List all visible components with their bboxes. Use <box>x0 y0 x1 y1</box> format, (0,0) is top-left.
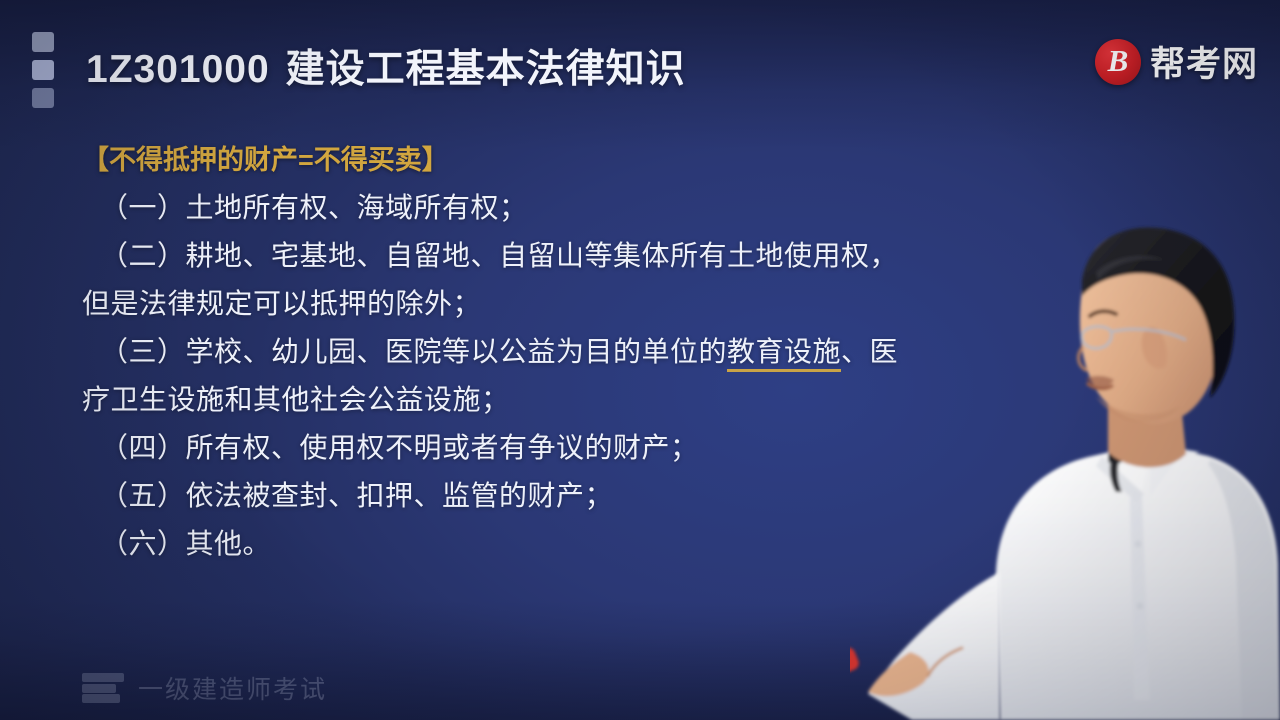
slide-line-item-3-highlight: 教育设施 <box>727 336 841 372</box>
presenter-glasses <box>1082 327 1186 349</box>
presenter-mouth <box>1088 384 1112 389</box>
hair-highlight <box>1096 256 1164 280</box>
presenter-ear <box>1142 327 1168 369</box>
lecture-video-frame: 1Z301000建设工程基本法律知识 B 帮考网 【不得抵押的财产=不得买卖】 … <box>0 0 1280 720</box>
shirt-placket <box>1130 496 1150 700</box>
slide-line-item-3-tail: 、医 <box>841 336 898 367</box>
shirt-button-1 <box>1135 541 1142 548</box>
presenter-neck <box>1108 392 1186 467</box>
course-code: 1Z301000 <box>86 48 270 91</box>
watermark-label: 一级建造师考试 <box>138 670 327 706</box>
lapel-mic <box>1110 456 1122 492</box>
left-sleeve <box>868 572 1000 720</box>
slide-line-item-3-lead: （三）学校、幼儿园、医院等以公益为目的单位的 <box>100 336 727 367</box>
brand-badge-icon: B <box>1095 39 1141 85</box>
book-bar-1 <box>82 673 124 682</box>
collar-fold <box>1096 456 1144 502</box>
slide-line-item-6: （六）其他。 <box>82 520 882 568</box>
mouth-open <box>1086 376 1114 389</box>
slide-line-item-2: （二）耕地、宅基地、自留地、自留山等集体所有土地使用权， <box>82 232 882 280</box>
square-3 <box>32 88 54 108</box>
square-2 <box>32 60 54 80</box>
slide-content: 【不得抵押的财产=不得买卖】 （一）土地所有权、海域所有权； （二）耕地、宅基地… <box>82 136 882 568</box>
square-1 <box>32 32 54 52</box>
slide-line-item-2-continued: 但是法律规定可以抵押的除外； <box>82 280 882 328</box>
book-bar-2 <box>82 684 116 693</box>
presenter-figure <box>850 140 1280 720</box>
page-title: 1Z301000建设工程基本法律知识 <box>86 38 686 94</box>
course-title: 建设工程基本法律知识 <box>286 48 686 91</box>
slide-line-item-3-continued: 疗卫生设施和其他社会公益设施； <box>82 376 882 424</box>
stacked-books-icon <box>82 673 124 703</box>
slide-line-item-1: （一）土地所有权、海域所有权； <box>82 184 882 232</box>
slide-line-item-5: （五）依法被查封、扣押、监管的财产； <box>82 472 882 520</box>
brand-badge-letter: B <box>1095 39 1141 85</box>
presenter-arms <box>850 572 1000 720</box>
mic-clip <box>1108 452 1122 463</box>
left-hand <box>868 652 929 696</box>
three-squares-icon <box>32 32 54 108</box>
book-bar-3 <box>82 694 120 703</box>
left-hand-fingers <box>928 648 962 676</box>
marker-pen <box>850 646 861 720</box>
presenter-body <box>996 227 1280 720</box>
presenter-brow <box>1090 311 1116 316</box>
slide-line-item-3: （三）学校、幼儿园、医院等以公益为目的单位的教育设施、医 <box>82 328 882 376</box>
marker-cap <box>850 646 861 679</box>
presenter-head <box>1080 231 1220 424</box>
presenter-hair <box>1082 227 1234 398</box>
jaw-shadow <box>1096 396 1180 422</box>
shirt-button-2 <box>1137 603 1144 610</box>
brand-name: 帮考网 <box>1150 36 1258 87</box>
presenter-nose <box>1079 348 1086 370</box>
slide-line-item-4: （四）所有权、使用权不明或者有争议的财产； <box>82 424 882 472</box>
brand-logo: B 帮考网 <box>1095 36 1258 87</box>
presenter-shirt <box>996 443 1280 720</box>
collar-left <box>1100 444 1150 492</box>
watermark: 一级建造师考试 <box>82 670 327 706</box>
collar-right <box>1150 444 1200 496</box>
shirt-shadow-right <box>1208 460 1278 720</box>
slide-heading: 【不得抵押的财产=不得买卖】 <box>82 136 882 184</box>
